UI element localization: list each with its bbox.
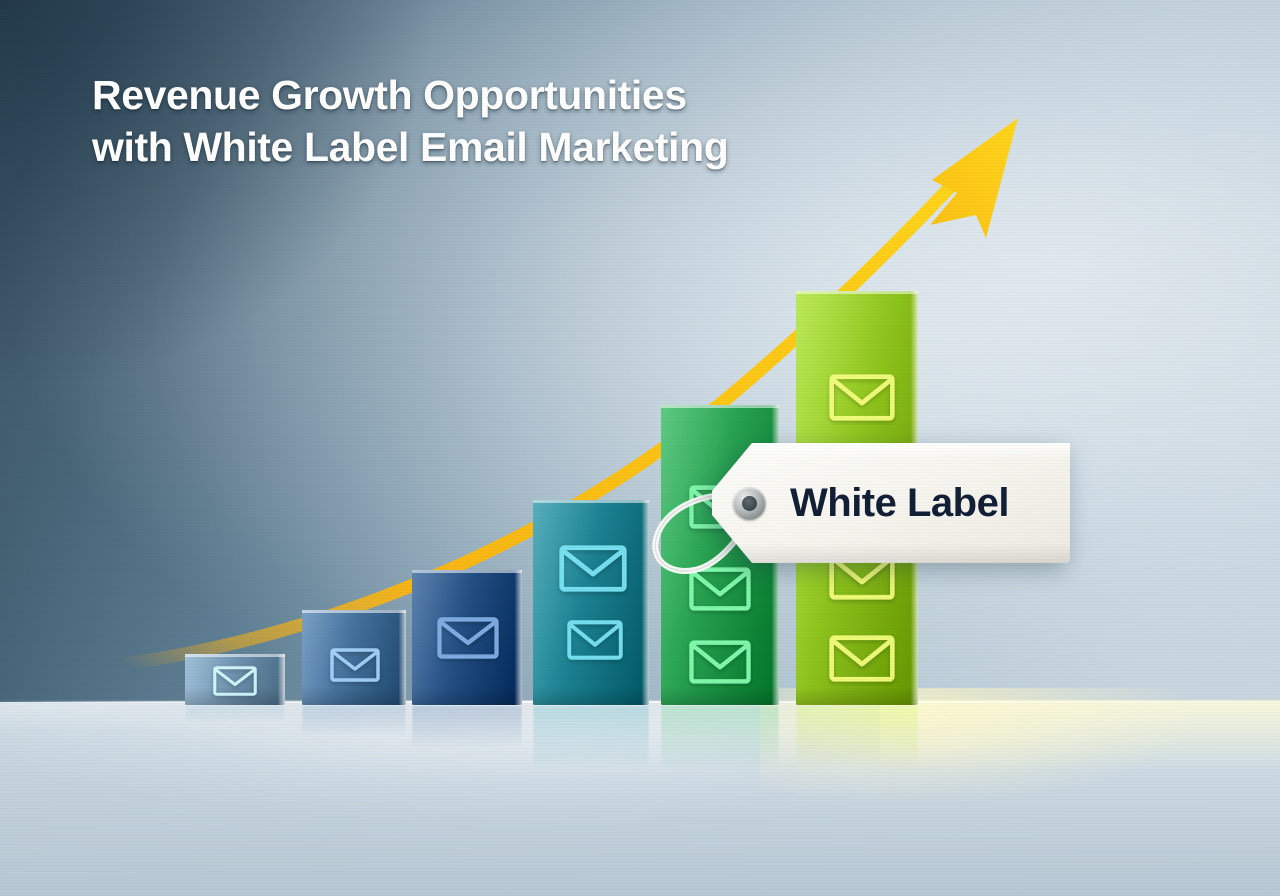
bar-2 xyxy=(302,610,406,705)
page-title: Revenue Growth Opportunities with White … xyxy=(92,70,912,173)
bar-3-reflection xyxy=(412,706,522,749)
envelope-icon xyxy=(567,620,623,660)
bar-2-reflection xyxy=(302,706,406,736)
bar-5-botshade xyxy=(661,687,779,705)
bar-6-botshade xyxy=(796,687,918,705)
bar-3-hl xyxy=(515,570,522,705)
poster-canvas: White Label Revenue Growth Opportunities… xyxy=(0,0,1280,896)
bar-4-topedge xyxy=(533,500,649,503)
envelope-icon xyxy=(689,640,751,684)
bar-1-hl xyxy=(278,654,285,705)
bar-2-botshade xyxy=(302,687,406,705)
bar-6-reflection xyxy=(796,706,918,770)
envelope-icon xyxy=(559,545,627,592)
bar-5-reflection xyxy=(661,706,779,770)
envelope-icon xyxy=(829,635,895,682)
envelope-icon xyxy=(330,648,380,682)
bar-1-topedge xyxy=(185,654,285,657)
bar-6-topedge xyxy=(796,291,918,294)
bar-4-hl xyxy=(642,500,649,705)
bar-1-reflection xyxy=(185,706,285,722)
bar-1 xyxy=(185,654,285,705)
tag-grommet-icon xyxy=(733,487,766,520)
white-label-tag[interactable]: White Label xyxy=(712,443,1070,563)
bar-4 xyxy=(533,500,649,705)
envelope-icon xyxy=(829,374,895,421)
bar-5-topedge xyxy=(661,405,779,408)
bar-3-botshade xyxy=(412,687,522,705)
tag-label: White Label xyxy=(790,443,1009,563)
bar-2-hl xyxy=(399,610,406,705)
envelope-icon xyxy=(213,666,257,696)
bar-2-topedge xyxy=(302,610,406,613)
bar-4-botshade xyxy=(533,687,649,705)
bar-4-reflection xyxy=(533,706,649,770)
floor-warm-glow-band xyxy=(880,700,1280,770)
envelope-icon xyxy=(689,567,751,611)
bar-3 xyxy=(412,570,522,705)
bar-4-gloss xyxy=(533,500,649,705)
envelope-icon xyxy=(437,617,499,659)
tag-grommet-hole xyxy=(742,496,757,511)
bar-3-topedge xyxy=(412,570,522,573)
